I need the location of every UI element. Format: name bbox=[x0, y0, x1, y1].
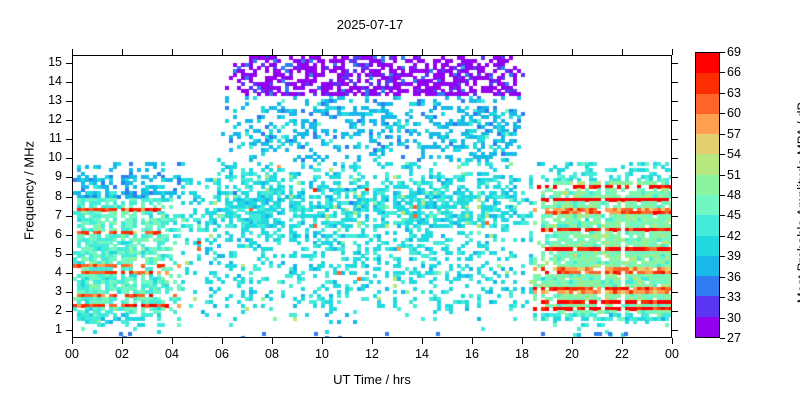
x-axis-tick-label: 16 bbox=[457, 347, 487, 361]
colorbar-tick-label: 69 bbox=[727, 46, 741, 58]
colorbar-tick bbox=[720, 93, 725, 94]
x-axis-title: UT Time / hrs bbox=[72, 372, 672, 387]
x-axis-tick bbox=[622, 338, 623, 344]
y-axis-tick-label: 7 bbox=[30, 209, 62, 221]
y-axis-tick-label: 6 bbox=[30, 228, 62, 240]
colorbar-tick bbox=[720, 175, 725, 176]
plot-area bbox=[72, 55, 672, 338]
y-axis-tick-right bbox=[672, 216, 678, 217]
x-axis-tick-top bbox=[672, 49, 673, 55]
x-axis-tick bbox=[322, 338, 323, 344]
y-axis-tick bbox=[66, 216, 72, 217]
y-axis-tick bbox=[66, 273, 72, 274]
colorbar-tick bbox=[720, 72, 725, 73]
colorbar-tick-label: 66 bbox=[727, 66, 741, 78]
x-axis-tick-top bbox=[322, 49, 323, 55]
y-axis-tick-right bbox=[672, 82, 678, 83]
colorbar-band bbox=[696, 73, 719, 93]
y-axis-tick-right bbox=[672, 273, 678, 274]
x-axis-tick-label: 20 bbox=[557, 347, 587, 361]
y-axis-tick bbox=[66, 177, 72, 178]
y-axis-tick-label: 14 bbox=[30, 75, 62, 87]
y-axis-tick-label: 8 bbox=[30, 190, 62, 202]
x-axis-tick-label: 08 bbox=[257, 347, 287, 361]
colorbar-tick bbox=[720, 113, 725, 114]
y-axis-tick-right bbox=[672, 197, 678, 198]
colorbar-band bbox=[696, 236, 719, 256]
colorbar-tick-label: 57 bbox=[727, 128, 741, 140]
colorbar-tick-label: 33 bbox=[727, 291, 741, 303]
colorbar-tick-label: 51 bbox=[727, 169, 741, 181]
colorbar-tick bbox=[720, 236, 725, 237]
x-axis-tick bbox=[422, 338, 423, 344]
colorbar-tick bbox=[720, 195, 725, 196]
colorbar-band bbox=[696, 296, 719, 316]
colorbar-tick bbox=[720, 215, 725, 216]
y-axis-tick-label: 12 bbox=[30, 113, 62, 125]
colorbar-band bbox=[696, 53, 719, 73]
colorbar-tick bbox=[720, 256, 725, 257]
x-axis-tick bbox=[522, 338, 523, 344]
colorbar-tick bbox=[720, 154, 725, 155]
x-axis-tick-label: 22 bbox=[607, 347, 637, 361]
y-axis-tick bbox=[66, 158, 72, 159]
colorbar-tick bbox=[720, 318, 725, 319]
x-axis-tick-label: 00 bbox=[57, 347, 87, 361]
y-axis-tick-label: 15 bbox=[30, 56, 62, 68]
colorbar-tick bbox=[720, 277, 725, 278]
x-axis-tick bbox=[672, 338, 673, 344]
colorbar-band bbox=[696, 94, 719, 114]
y-axis-tick bbox=[66, 254, 72, 255]
x-axis-tick-top bbox=[622, 49, 623, 55]
colorbar-tick-label: 54 bbox=[727, 148, 741, 160]
y-axis-tick bbox=[66, 235, 72, 236]
colorbar-band bbox=[696, 114, 719, 134]
y-axis-tick-label: 2 bbox=[30, 304, 62, 316]
x-axis-tick-top bbox=[572, 49, 573, 55]
colorbar-band bbox=[696, 215, 719, 235]
y-axis-tick-label: 1 bbox=[30, 323, 62, 335]
colorbar-tick-label: 30 bbox=[727, 312, 741, 324]
colorbar-tick-label: 36 bbox=[727, 271, 741, 283]
colorbar-tick-label: 27 bbox=[727, 332, 741, 344]
x-axis-tick bbox=[472, 338, 473, 344]
x-axis-tick bbox=[222, 338, 223, 344]
colorbar-band bbox=[696, 317, 719, 337]
y-axis-tick-right bbox=[672, 158, 678, 159]
x-axis-tick-label: 12 bbox=[357, 347, 387, 361]
x-axis-tick-label: 14 bbox=[407, 347, 437, 361]
y-axis-tick bbox=[66, 197, 72, 198]
colorbar-tick-label: 39 bbox=[727, 250, 741, 262]
colorbar-band bbox=[696, 134, 719, 154]
colorbar-tick-label: 42 bbox=[727, 230, 741, 242]
y-axis-tick-right bbox=[672, 235, 678, 236]
x-axis-tick-label: 04 bbox=[157, 347, 187, 361]
colorbar-band bbox=[696, 154, 719, 174]
x-axis-tick-top bbox=[72, 49, 73, 55]
scatter-canvas bbox=[73, 56, 672, 338]
x-axis-tick bbox=[72, 338, 73, 344]
y-axis-tick-right bbox=[672, 330, 678, 331]
colorbar-tick bbox=[720, 338, 725, 339]
y-axis-tick-right bbox=[672, 311, 678, 312]
colorbar-band bbox=[696, 195, 719, 215]
x-axis-tick-top bbox=[222, 49, 223, 55]
x-axis-tick-top bbox=[172, 49, 173, 55]
x-axis-tick-label: 00 bbox=[657, 347, 687, 361]
page-title: 2025-07-17 bbox=[0, 17, 740, 32]
y-axis-tick-label: 11 bbox=[30, 132, 62, 144]
y-axis-tick bbox=[66, 292, 72, 293]
colorbar bbox=[695, 52, 720, 338]
colorbar-tick bbox=[720, 134, 725, 135]
x-axis-tick-top bbox=[522, 49, 523, 55]
y-axis-tick bbox=[66, 330, 72, 331]
x-axis-tick-label: 18 bbox=[507, 347, 537, 361]
y-axis-tick-label: 5 bbox=[30, 247, 62, 259]
colorbar-band bbox=[696, 256, 719, 276]
colorbar-band bbox=[696, 175, 719, 195]
x-axis-tick-top bbox=[372, 49, 373, 55]
colorbar-band bbox=[696, 276, 719, 296]
colorbar-tick-label: 45 bbox=[727, 209, 741, 221]
x-axis-tick bbox=[372, 338, 373, 344]
y-axis-tick-right bbox=[672, 292, 678, 293]
x-axis-tick-top bbox=[422, 49, 423, 55]
y-axis-tick-label: 4 bbox=[30, 266, 62, 278]
y-axis-tick-label: 10 bbox=[30, 151, 62, 163]
x-axis-tick-top bbox=[472, 49, 473, 55]
y-axis-tick-right bbox=[672, 63, 678, 64]
y-axis-tick-right bbox=[672, 254, 678, 255]
y-axis-tick bbox=[66, 139, 72, 140]
x-axis-tick-label: 10 bbox=[307, 347, 337, 361]
y-axis-tick-right bbox=[672, 120, 678, 121]
colorbar-tick bbox=[720, 52, 725, 53]
y-axis-tick bbox=[66, 101, 72, 102]
colorbar-title: Most Probable Amplitude MPA / dB bbox=[795, 58, 800, 348]
colorbar-tick-label: 63 bbox=[727, 87, 741, 99]
y-axis-tick-label: 9 bbox=[30, 170, 62, 182]
x-axis-tick bbox=[122, 338, 123, 344]
y-axis-tick bbox=[66, 82, 72, 83]
y-axis-tick-label: 3 bbox=[30, 285, 62, 297]
x-axis-tick-label: 02 bbox=[107, 347, 137, 361]
colorbar-tick-label: 48 bbox=[727, 189, 741, 201]
y-axis-tick bbox=[66, 120, 72, 121]
ionogram-figure: 2025-07-17 Frequency / MHz UT Time / hrs… bbox=[0, 0, 800, 400]
x-axis-tick bbox=[172, 338, 173, 344]
x-axis-tick-label: 06 bbox=[207, 347, 237, 361]
y-axis-tick bbox=[66, 63, 72, 64]
colorbar-tick bbox=[720, 297, 725, 298]
colorbar-tick-label: 60 bbox=[727, 107, 741, 119]
y-axis-tick-right bbox=[672, 101, 678, 102]
y-axis-tick bbox=[66, 311, 72, 312]
x-axis-tick-top bbox=[272, 49, 273, 55]
x-axis-tick bbox=[272, 338, 273, 344]
y-axis-tick-label: 13 bbox=[30, 94, 62, 106]
y-axis-tick-right bbox=[672, 177, 678, 178]
x-axis-tick-top bbox=[122, 49, 123, 55]
x-axis-tick bbox=[572, 338, 573, 344]
y-axis-tick-right bbox=[672, 139, 678, 140]
